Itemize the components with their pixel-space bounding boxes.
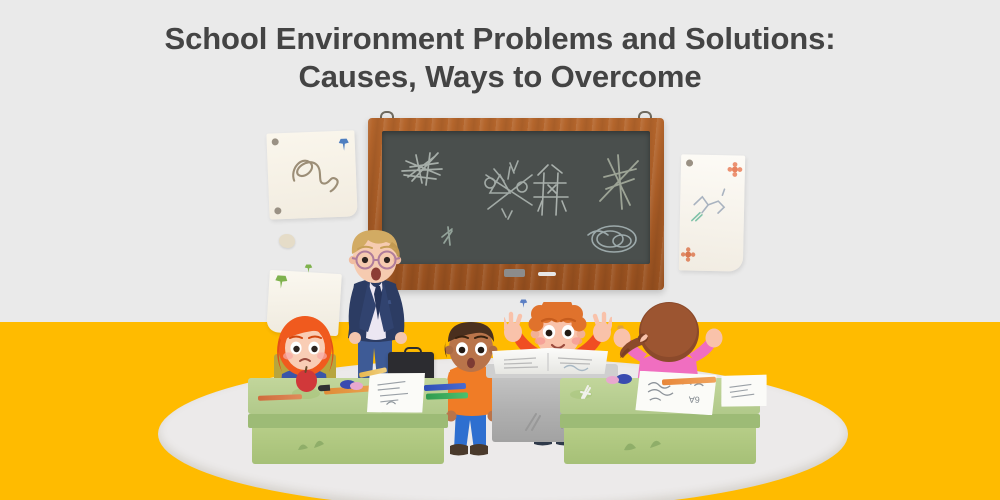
blue-tack-icon (336, 134, 351, 151)
green-tack-icon (304, 262, 313, 273)
poster-top-left (266, 130, 357, 219)
poster-scribble-icon (688, 187, 739, 230)
pin-tack-icon (686, 159, 693, 166)
pencil-tip (318, 385, 330, 392)
eraser-pink-right (606, 376, 619, 384)
desk-right-edge (560, 414, 760, 428)
book-text-lines (496, 352, 604, 372)
desk-right-doodle (616, 432, 680, 458)
notebook-lines (725, 378, 765, 405)
chalk-mark-right (576, 382, 604, 404)
desk-left-doodle (290, 432, 350, 458)
briefcase-handle (404, 347, 422, 356)
paper-left-scribbles (371, 377, 423, 412)
poster-right (679, 154, 745, 271)
page-title: School Environment Problems and Solution… (0, 20, 1000, 96)
blackboard-eraser (504, 269, 525, 277)
chalk-stick (538, 272, 556, 276)
banner-root: School Environment Problems and Solution… (0, 0, 1000, 500)
red-flower-tack-icon (727, 161, 743, 177)
green-tack-icon (273, 272, 290, 289)
apple (296, 370, 317, 392)
pin-tack-icon (274, 207, 281, 214)
red-flower-tack-icon (680, 246, 696, 262)
poster-scribble-icon (285, 149, 343, 199)
pin-tack-icon (272, 138, 279, 145)
svg-text:6A: 6A (689, 394, 700, 404)
crumpled-paper-ball (279, 234, 295, 248)
desk-left-edge (248, 414, 448, 428)
eraser-pink (350, 382, 363, 390)
